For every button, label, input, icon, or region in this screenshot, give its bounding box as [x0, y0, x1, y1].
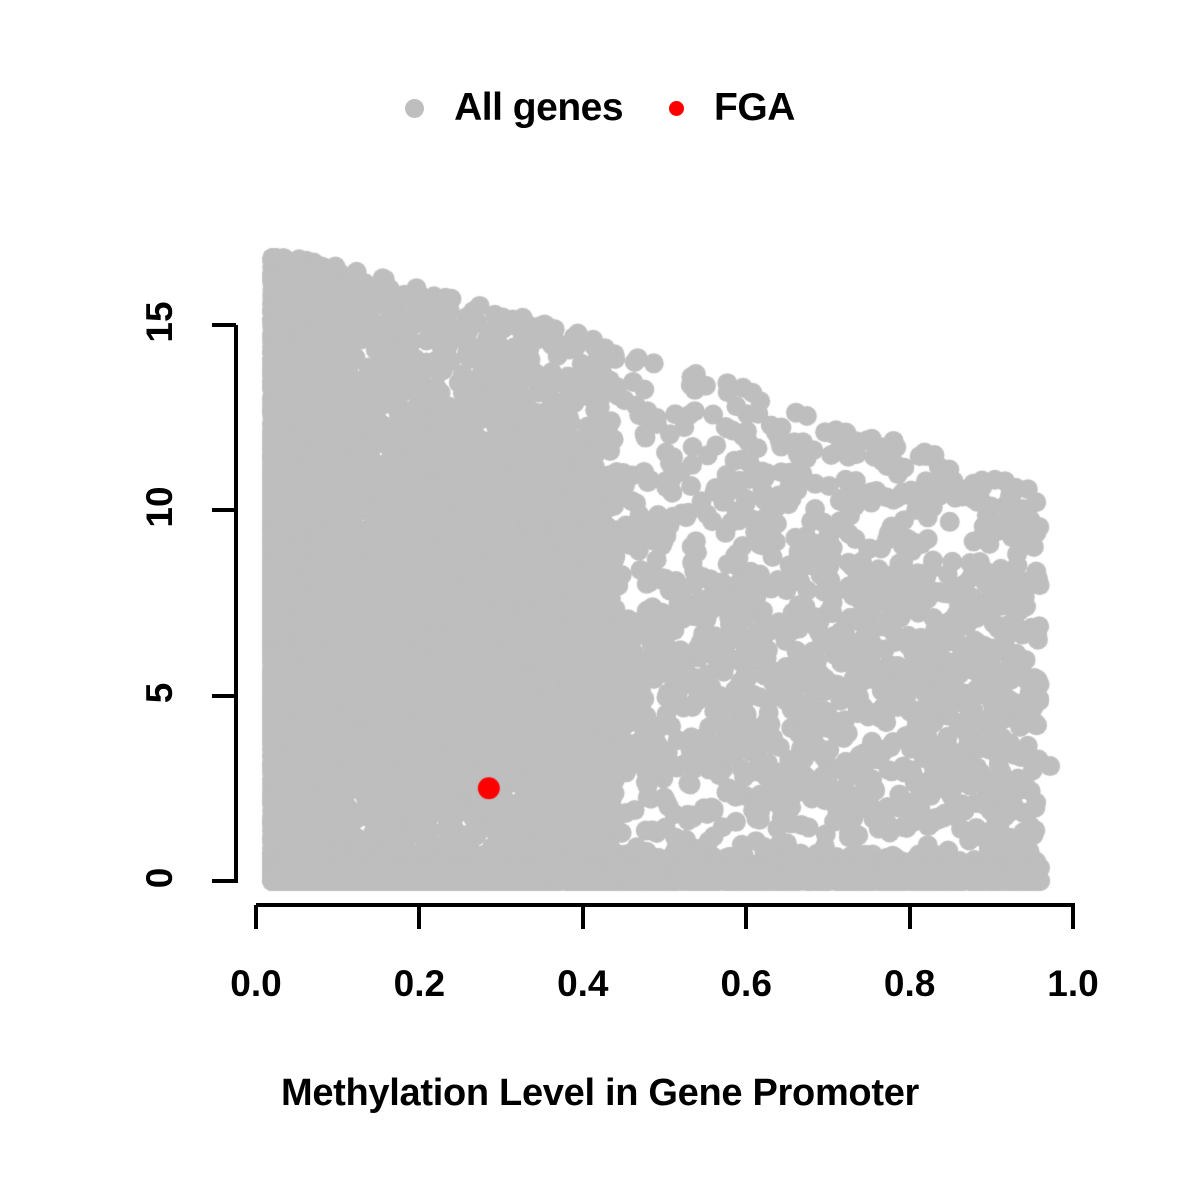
x-axis-tick-label: 0.6 — [686, 963, 806, 1005]
legend-marker-all-genes-icon — [405, 99, 424, 118]
y-axis-tick — [212, 508, 236, 512]
x-axis-line — [256, 903, 1075, 907]
x-axis-tick — [254, 905, 258, 929]
scatter-plot-figure: All genes FGA 051015 0.00.20.40.60.81.0 … — [0, 0, 1200, 1200]
legend-label-all-genes: All genes — [454, 86, 623, 130]
legend-marker-fga-icon — [669, 101, 684, 116]
y-axis-tick — [212, 879, 236, 883]
y-axis-line — [234, 325, 238, 883]
y-axis-title: Gene Expression Level (log2 RSEM) — [0, 0, 64, 1200]
legend: All genes FGA — [0, 78, 1200, 138]
legend-entry-fga: FGA — [669, 86, 795, 130]
x-axis-tick-label: 0.2 — [359, 963, 479, 1005]
y-axis-tick — [212, 694, 236, 698]
y-axis-tick-label: 15 — [139, 282, 181, 362]
x-axis-tick-label: 0.0 — [196, 963, 316, 1005]
x-axis-tick — [1071, 905, 1075, 929]
y-axis-tick-label: 10 — [139, 467, 181, 547]
legend-entry-all-genes: All genes — [405, 86, 623, 130]
y-axis-tick — [212, 323, 236, 327]
x-axis-tick-label: 1.0 — [1013, 963, 1133, 1005]
scatter-plot-canvas — [0, 0, 1200, 1200]
x-axis-tick — [417, 905, 421, 929]
x-axis-title: Methylation Level in Gene Promoter — [0, 1072, 1200, 1115]
legend-label-fga: FGA — [714, 86, 795, 130]
x-axis-tick-label: 0.4 — [523, 963, 643, 1005]
x-axis-tick — [744, 905, 748, 929]
y-axis-tick-label: 5 — [139, 653, 181, 733]
y-axis-tick-label: 0 — [139, 838, 181, 918]
x-axis-tick-label: 0.8 — [850, 963, 970, 1005]
x-axis-tick — [581, 905, 585, 929]
x-axis-tick — [908, 905, 912, 929]
